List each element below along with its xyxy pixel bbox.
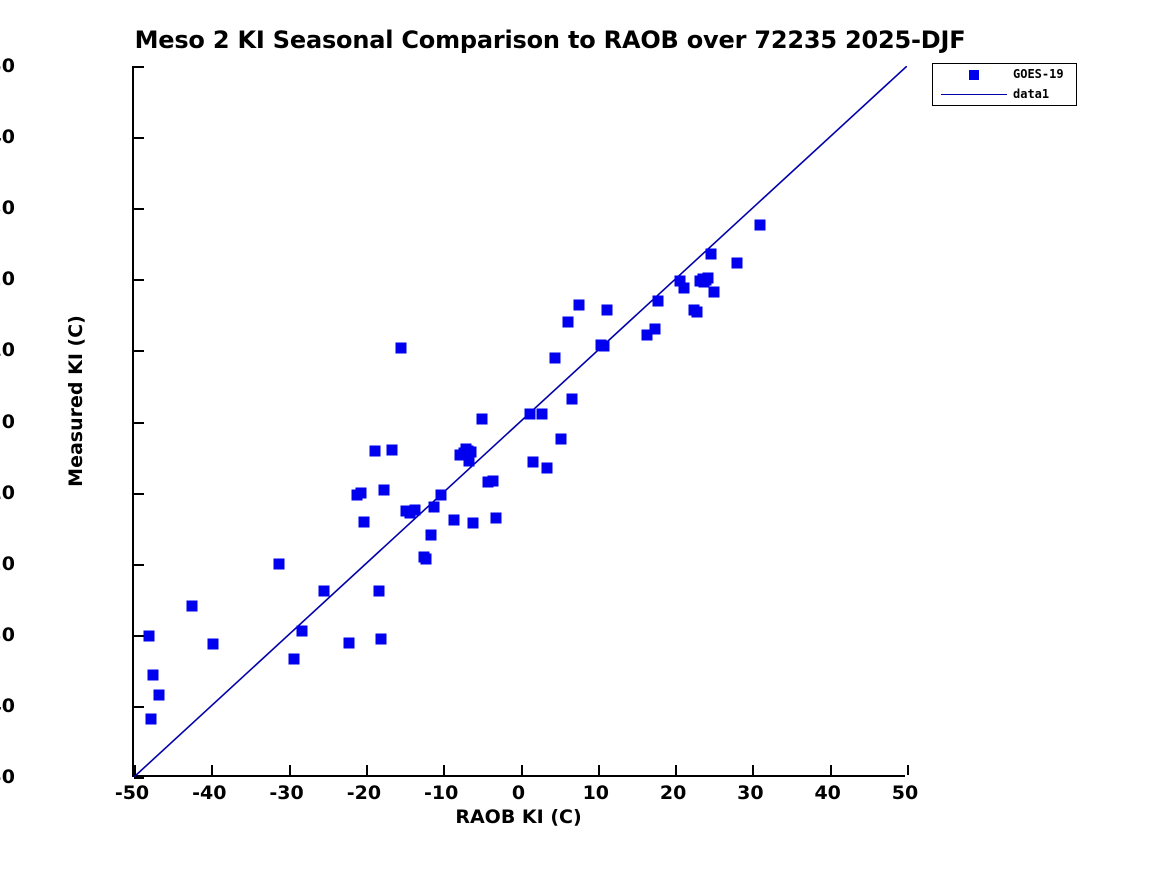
scatter-point <box>598 341 609 352</box>
scatter-point <box>524 409 535 420</box>
scatter-point <box>755 219 766 230</box>
figure-canvas: Meso 2 KI Seasonal Comparison to RAOB ov… <box>0 0 1167 875</box>
scatter-point <box>602 304 613 315</box>
x-axis-tick <box>830 765 832 775</box>
y-axis-tick <box>134 137 144 139</box>
plot-canvas <box>134 66 907 777</box>
scatter-point <box>376 634 387 645</box>
reference-line <box>134 66 907 777</box>
scatter-point <box>358 517 369 528</box>
y-axis-tick <box>134 279 144 281</box>
y-axis-tick-label: -20 <box>0 553 15 575</box>
x-axis-tick-label: -10 <box>406 782 476 804</box>
legend-label: GOES-19 <box>1013 67 1064 81</box>
scatter-point <box>487 475 498 486</box>
x-axis-tick-label: -20 <box>329 782 399 804</box>
scatter-point <box>449 514 460 525</box>
y-axis-tick-label: 40 <box>0 126 15 148</box>
scatter-point <box>409 504 420 515</box>
y-axis-tick-label: -30 <box>0 624 15 646</box>
y-axis-tick-label: 0 <box>0 411 15 433</box>
x-axis-tick <box>134 765 136 775</box>
legend-line-sample <box>933 84 1009 105</box>
y-axis-tick <box>134 635 144 637</box>
scatter-point <box>296 626 307 637</box>
x-axis-tick <box>907 765 909 775</box>
y-axis-tick-label: -50 <box>0 766 15 788</box>
y-axis-tick <box>134 422 144 424</box>
x-axis-tick-label: 0 <box>484 782 554 804</box>
scatter-point <box>144 631 155 642</box>
x-axis-tick-label: 20 <box>638 782 708 804</box>
x-axis-label: RAOB KI (C) <box>132 806 905 828</box>
x-axis-tick <box>289 765 291 775</box>
page-title: Meso 2 KI Seasonal Comparison to RAOB ov… <box>0 26 1100 54</box>
y-axis-tick <box>134 564 144 566</box>
scatter-point <box>476 414 487 425</box>
scatter-point <box>356 487 367 498</box>
y-axis-tick <box>134 208 144 210</box>
y-axis-tick-label: -10 <box>0 482 15 504</box>
scatter-point <box>679 282 690 293</box>
scatter-point <box>428 501 439 512</box>
x-axis-tick-label: 50 <box>870 782 940 804</box>
line-marker-icon <box>941 94 1007 95</box>
scatter-point <box>425 530 436 541</box>
legend: GOES-19 data1 <box>932 63 1077 106</box>
scatter-point <box>541 462 552 473</box>
x-axis-tick <box>675 765 677 775</box>
scatter-point <box>527 457 538 468</box>
y-axis-tick-label: 10 <box>0 339 15 361</box>
scatter-point <box>396 343 407 354</box>
scatter-point <box>273 558 284 569</box>
scatter-point <box>708 287 719 298</box>
x-axis-tick <box>521 765 523 775</box>
y-axis-tick <box>134 66 144 68</box>
scatter-point <box>490 513 501 524</box>
y-axis-tick <box>134 777 144 779</box>
y-axis-tick-label: 20 <box>0 268 15 290</box>
x-axis-tick-label: 40 <box>793 782 863 804</box>
scatter-point <box>435 490 446 501</box>
scatter-point <box>319 585 330 596</box>
scatter-point <box>731 257 742 268</box>
scatter-point <box>343 637 354 648</box>
y-axis-label: Measured KI (C) <box>65 301 87 501</box>
scatter-point <box>650 324 661 335</box>
scatter-point <box>563 316 574 327</box>
scatter-point <box>421 554 432 565</box>
scatter-point <box>207 639 218 650</box>
legend-label: data1 <box>1013 87 1049 101</box>
scatter-point <box>691 307 702 318</box>
legend-marker-sample <box>933 64 1009 85</box>
scatter-point <box>147 669 158 680</box>
plot-area <box>132 66 905 777</box>
y-axis-tick <box>134 706 144 708</box>
x-axis-tick-label: -40 <box>174 782 244 804</box>
legend-item-goes19[interactable]: GOES-19 <box>933 64 1078 85</box>
y-axis-tick-label: 50 <box>0 55 15 77</box>
scatter-point <box>537 409 548 420</box>
y-axis-tick-label: 30 <box>0 197 15 219</box>
scatter-point <box>374 585 385 596</box>
x-axis-tick-label: -30 <box>252 782 322 804</box>
x-axis-tick-label: 10 <box>561 782 631 804</box>
scatter-point <box>379 485 390 496</box>
x-axis-tick <box>211 765 213 775</box>
x-axis-tick <box>752 765 754 775</box>
scatter-point <box>467 518 478 529</box>
legend-item-data1[interactable]: data1 <box>933 84 1078 105</box>
scatter-point <box>370 446 381 457</box>
x-axis-tick <box>443 765 445 775</box>
x-axis-tick-label: 30 <box>715 782 785 804</box>
scatter-point <box>653 295 664 306</box>
scatter-point <box>146 713 157 724</box>
scatter-point <box>186 601 197 612</box>
scatter-point <box>574 299 585 310</box>
x-axis-tick <box>598 765 600 775</box>
scatter-point <box>705 248 716 259</box>
x-axis-tick-label: -50 <box>97 782 167 804</box>
y-axis-tick <box>134 350 144 352</box>
scatter-point <box>387 444 398 455</box>
scatter-point <box>289 653 300 664</box>
scatter-point <box>153 690 164 701</box>
scatter-point <box>549 352 560 363</box>
x-axis-tick <box>366 765 368 775</box>
scatter-point <box>555 434 566 445</box>
scatter-point <box>566 393 577 404</box>
y-axis-tick <box>134 493 144 495</box>
square-marker-icon <box>969 70 979 80</box>
y-axis-tick-label: -40 <box>0 695 15 717</box>
scatter-point <box>466 447 477 458</box>
scatter-point <box>702 272 713 283</box>
